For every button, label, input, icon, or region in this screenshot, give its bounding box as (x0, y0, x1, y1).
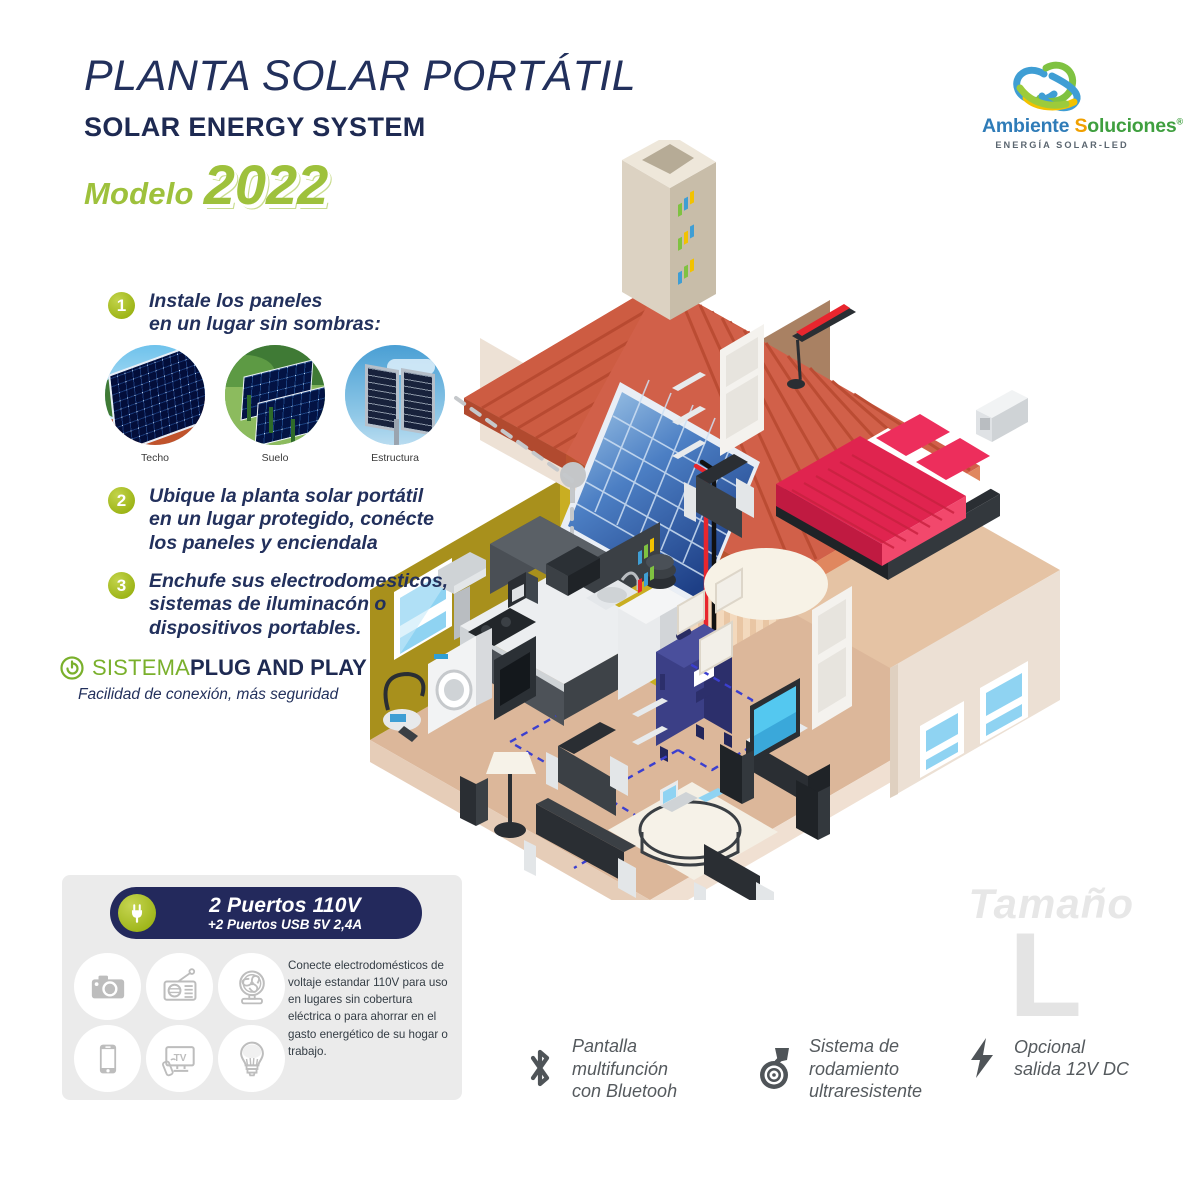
page-title: PLANTA SOLAR PORTÁTIL (84, 52, 636, 101)
step-3-number: 3 (108, 572, 135, 599)
registered-mark: ® (1177, 117, 1183, 127)
logo-word-oluciones: oluciones (1087, 115, 1176, 137)
ports-pill: 2 Puertos 110V +2 Puertos USB 5V 2,4A (110, 887, 422, 939)
smartphone-icon (90, 1041, 126, 1077)
chimney (622, 140, 716, 320)
svg-text:TV: TV (173, 1052, 186, 1063)
bluetooth-icon-wrap (518, 1044, 562, 1094)
panel-placement-photos: Techo Suelo Estructura (105, 345, 445, 464)
size-value: L (1009, 915, 1082, 1035)
photo-item-estructura: Estructura (345, 345, 445, 464)
fan-icon (232, 967, 272, 1007)
model-line: Modelo 2022 (84, 158, 328, 212)
trefoil-loop-icon (982, 58, 1142, 114)
house-illustration (360, 140, 1160, 900)
step-2-text: Ubique la planta solar portátil en un lu… (149, 485, 434, 555)
camera-icon (89, 968, 127, 1006)
logo-wordmark: Ambiente Soluciones® (982, 115, 1142, 138)
lightning-bolt-icon (967, 1035, 997, 1081)
plug-and-play-label-light: SISTEMA (92, 655, 190, 681)
step-3: 3 Enchufe sus electrodomesticos, sistema… (108, 570, 448, 640)
step-3-text: Enchufe sus electrodomesticos, sistemas … (149, 570, 448, 640)
step-1-text: Instale los paneles en un lugar sin somb… (149, 290, 381, 337)
power-plug-icon (126, 902, 148, 924)
isometric-house-svg (360, 140, 1160, 900)
radio-icon (160, 967, 200, 1007)
device-fan (218, 953, 285, 1020)
feature-dc-output-text: Opcional salida 12V DC (1014, 1036, 1129, 1081)
plug-and-play-label-bold: PLUG AND PLAY (190, 655, 367, 681)
model-year: 2022 (204, 158, 329, 211)
bolt-icon-wrap (960, 1035, 1004, 1081)
step-2: 2 Ubique la planta solar portátil en un … (108, 485, 434, 555)
feature-caster-text: Sistema de rodamiento ultraresistente (809, 1035, 922, 1103)
living-room-door (812, 586, 852, 730)
model-label: Modelo (84, 176, 194, 212)
ports-description: Conecte electrodomésticos de voltaje est… (288, 957, 450, 1060)
photo-caption-suelo: Suelo (225, 452, 325, 464)
feature-dc-output: Opcional salida 12V DC (960, 1035, 1129, 1081)
photo-caption-estructura: Estructura (345, 452, 445, 464)
ports-text: 2 Puertos 110V +2 Puertos USB 5V 2,4A (156, 894, 422, 932)
photo-item-suelo: Suelo (225, 345, 325, 464)
device-radio (146, 953, 213, 1020)
device-tv: TV (146, 1025, 213, 1092)
tv-icon: TV (159, 1038, 201, 1080)
ports-card: 2 Puertos 110V +2 Puertos USB 5V 2,4A (62, 875, 462, 1100)
logo-letter-s: S (1069, 115, 1087, 137)
device-smartphone (74, 1025, 141, 1092)
photo-ground-panels (225, 345, 325, 445)
caster-icon-wrap (755, 1045, 799, 1093)
step-2-number: 2 (108, 487, 135, 514)
bluetooth-icon (525, 1044, 555, 1094)
power-plug-badge (118, 894, 156, 932)
ports-subtitle: +2 Puertos USB 5V 2,4A (156, 917, 414, 932)
plug-and-play-block: SISTEMA PLUG AND PLAY Facilidad de conex… (60, 655, 367, 704)
device-lightbulb (218, 1025, 285, 1092)
device-camera (74, 953, 141, 1020)
infographic-root: PLANTA SOLAR PORTÁTIL SOLAR ENERGY SYSTE… (0, 0, 1200, 1200)
photo-caption-techo: Techo (105, 452, 205, 464)
photo-structure-panels (345, 345, 445, 445)
page-subtitle: SOLAR ENERGY SYSTEM (84, 112, 426, 143)
caster-wheel-icon (757, 1045, 797, 1093)
step-1: 1 Instale los paneles en un lugar sin so… (108, 290, 381, 337)
feature-caster: Sistema de rodamiento ultraresistente (755, 1035, 922, 1103)
photo-item-techo: Techo (105, 345, 205, 464)
feature-bluetooth-text: Pantalla multifunción con Bluetooh (572, 1035, 677, 1103)
supported-devices-grid: TV (74, 953, 285, 1092)
logo-word-ambiente: Ambiente (982, 115, 1069, 137)
ports-title: 2 Puertos 110V (156, 894, 414, 918)
power-check-icon (60, 656, 84, 680)
brand-logo: Ambiente Soluciones® ENERGÍA SOLAR-LED (982, 58, 1142, 150)
feature-bluetooth: Pantalla multifunción con Bluetooh (518, 1035, 677, 1103)
photo-roof-panels (105, 345, 205, 445)
plug-and-play-subtitle: Facilidad de conexión, más seguridad (78, 686, 367, 704)
lightbulb-icon (232, 1039, 272, 1079)
step-1-number: 1 (108, 292, 135, 319)
